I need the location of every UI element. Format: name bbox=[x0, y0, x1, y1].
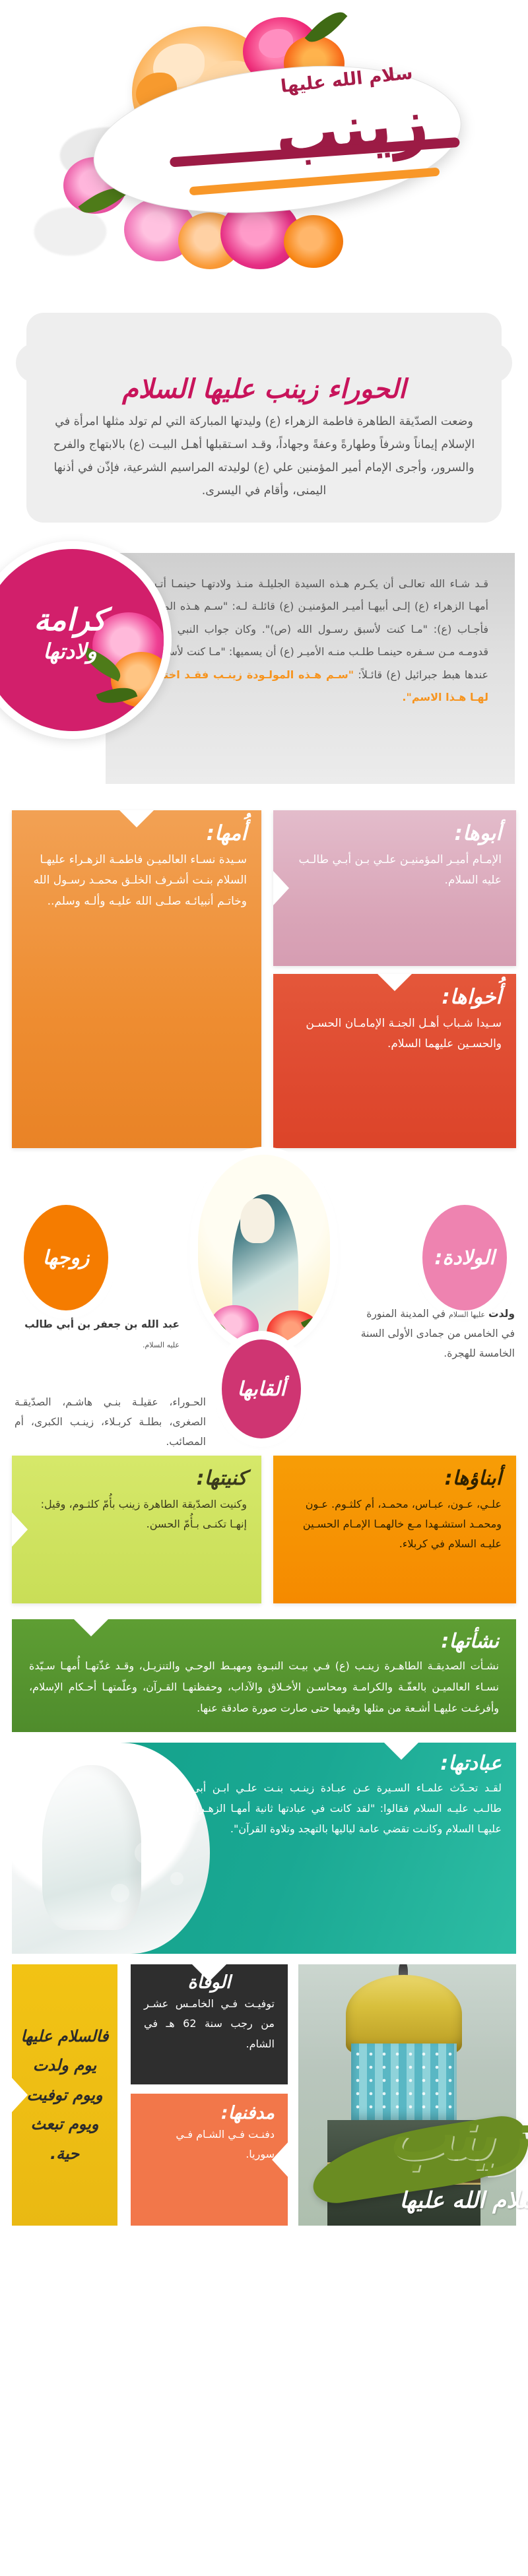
husband-name: عبد الله بن جعفر بن أبي طالب bbox=[24, 1318, 180, 1330]
birth-lead: ولدت bbox=[488, 1308, 515, 1320]
circle-husband-label: زوجها bbox=[43, 1246, 90, 1270]
circle-birth[interactable]: الولادة: bbox=[422, 1205, 507, 1310]
notch-icon bbox=[12, 1512, 28, 1547]
middle-circles-section: زوجها الولادة: ألقابها عبد الله بن جعفر … bbox=[0, 1148, 528, 1452]
card-children-title: أبناؤها: bbox=[288, 1467, 502, 1491]
notch-icon bbox=[272, 2142, 288, 2177]
page-title: الحوراء زينب عليها السلام bbox=[46, 376, 482, 402]
floral-header: سلام الله عليها زينب bbox=[0, 0, 528, 310]
praying-woman-veil-icon bbox=[12, 1743, 210, 1954]
worship-text: لقـد تحـدّث علمـاء السـيرة عـن عبـادة زي… bbox=[191, 1778, 502, 1840]
death-box[interactable]: الوفاة توفيـت فـي الخامـس عشـر من رجب سن… bbox=[131, 1964, 288, 2084]
birth-text: ولدت عليها السلام في المدينة المنورة في … bbox=[356, 1304, 515, 1364]
burial-title: مدفنها: bbox=[144, 2103, 275, 2123]
card-mother-text: سـيدة نسـاء العالميـن فاطمـة الزهـراء عل… bbox=[26, 850, 247, 912]
bokeh-dot bbox=[111, 1884, 129, 1902]
karama-section: قـد شـاء الله تعالـى أن يكـرم هـذه السيد… bbox=[0, 541, 528, 805]
card-kunya-title: كنيتها: bbox=[26, 1467, 247, 1491]
card-children-text: علـي، عـون، عبـاس، محمـد، أم كلثـوم. عـو… bbox=[288, 1495, 502, 1555]
card-kunya[interactable]: كنيتها: وكنيت الصدّيقة الطاهرة زينب بأُم… bbox=[12, 1456, 261, 1603]
bokeh-dot bbox=[170, 1872, 183, 1885]
circle-husband[interactable]: زوجها bbox=[24, 1205, 108, 1310]
family-cards-section: أُمها: سـيدة نسـاء العالميـن فاطمـة الزه… bbox=[0, 805, 528, 1148]
karama-badge-line1: كرامة bbox=[0, 602, 149, 637]
upbringing-text: نشـأت الصديقـة الطاهـرة زينـب (ع) فـي بي… bbox=[29, 1656, 499, 1719]
worship-content: عبادتها: لقـد تحـدّث علمـاء السـيرة عـن … bbox=[191, 1752, 502, 1840]
card-father[interactable]: أبوها: الإمـام أميـر المؤمنيـن علـي بـن … bbox=[273, 810, 516, 966]
kunya-children-section: كنيتها: وكنيت الصدّيقة الطاهرة زينب بأُم… bbox=[0, 1452, 528, 1610]
intro-cloud-card: الحوراء زينب عليها السلام وضعت الصدّيقة … bbox=[26, 313, 502, 523]
intro-paragraph: وضعت الصدّيقة الطاهرة فاطمة الزهراء (ع) … bbox=[46, 410, 482, 503]
circle-titles-label: ألقابها bbox=[237, 1378, 285, 1401]
husband-honorific: عليه السلام. bbox=[143, 1341, 180, 1349]
watermark-text: زينب bbox=[343, 2104, 528, 2166]
card-brothers[interactable]: أُخواها: سـيدا شـباب أهـل الجنـة الإمامـ… bbox=[273, 974, 516, 1148]
karama-paragraph: قـد شـاء الله تعالـى أن يكـرم هـذه السيد… bbox=[128, 577, 488, 681]
circle-birth-label: الولادة: bbox=[434, 1246, 494, 1270]
notch-icon bbox=[119, 810, 154, 827]
notch-icon bbox=[12, 2078, 28, 2112]
husband-text: عبد الله بن جعفر بن أبي طالب عليه السلام… bbox=[15, 1314, 180, 1354]
shrine-dome bbox=[346, 1975, 462, 2054]
card-kunya-text: وكنيت الصدّيقة الطاهرة زينب بأُمّ كلثـوم… bbox=[26, 1495, 247, 1535]
worship-section: عبادتها: لقـد تحـدّث علمـاء السـيرة عـن … bbox=[12, 1743, 516, 1954]
bokeh-dot bbox=[150, 1769, 178, 1797]
salute-text: فالسلام عليها يوم ولدت ويوم توفيت ويوم ت… bbox=[12, 2022, 117, 2168]
burial-box[interactable]: مدفنها: دفنـت فـي الشـام فـي سوريا. bbox=[131, 2094, 288, 2226]
notch-icon bbox=[273, 871, 289, 905]
worship-title: عبادتها: bbox=[191, 1752, 502, 1775]
death-text: توفيـت فـي الخامـس عشـر من رجب سنة 62 هـ… bbox=[144, 1994, 275, 2054]
bottom-section: فالسلام عليها يوم ولدت ويوم توفيت ويوم ت… bbox=[0, 1964, 528, 2248]
watermark-subtext: سلام الله عليها bbox=[393, 2187, 528, 2214]
notch-icon bbox=[378, 974, 412, 991]
woman-portrait-icon bbox=[198, 1155, 330, 1346]
bokeh-dot bbox=[135, 1842, 157, 1864]
salute-box[interactable]: فالسلام عليها يوم ولدت ويوم توفيت ويوم ت… bbox=[12, 1964, 117, 2226]
karama-badge-line2: ولادتها bbox=[0, 639, 149, 664]
notch-icon bbox=[192, 1964, 226, 1981]
intro-section: الحوراء زينب عليها السلام وضعت الصدّيقة … bbox=[0, 310, 528, 537]
card-father-title: أبوها: bbox=[288, 822, 502, 846]
card-brothers-text: سـيدا شـباب أهـل الجنـة الإمامـان الحسـن… bbox=[288, 1014, 502, 1055]
birth-honorific: عليها السلام bbox=[449, 1310, 485, 1319]
notch-icon bbox=[74, 1619, 108, 1636]
card-father-text: الإمـام أميـر المؤمنيـن علـي بـن أبـي طا… bbox=[288, 850, 502, 891]
card-mother[interactable]: أُمها: سـيدة نسـاء العالميـن فاطمـة الزه… bbox=[12, 810, 261, 1148]
upbringing-section: نشأتها: نشـأت الصديقـة الطاهـرة زينـب (ع… bbox=[12, 1619, 516, 1732]
burial-text: دفنـت فـي الشـام فـي سوريا. bbox=[144, 2125, 275, 2165]
circle-titles[interactable]: ألقابها bbox=[222, 1339, 301, 1438]
card-children[interactable]: أبناؤها: علـي، عـون، عبـاس، محمـد، أم كل… bbox=[273, 1456, 516, 1603]
titles-text: الحـوراء، عقيلـة بنـي هاشـم، الصدّيقـة ا… bbox=[15, 1392, 206, 1452]
